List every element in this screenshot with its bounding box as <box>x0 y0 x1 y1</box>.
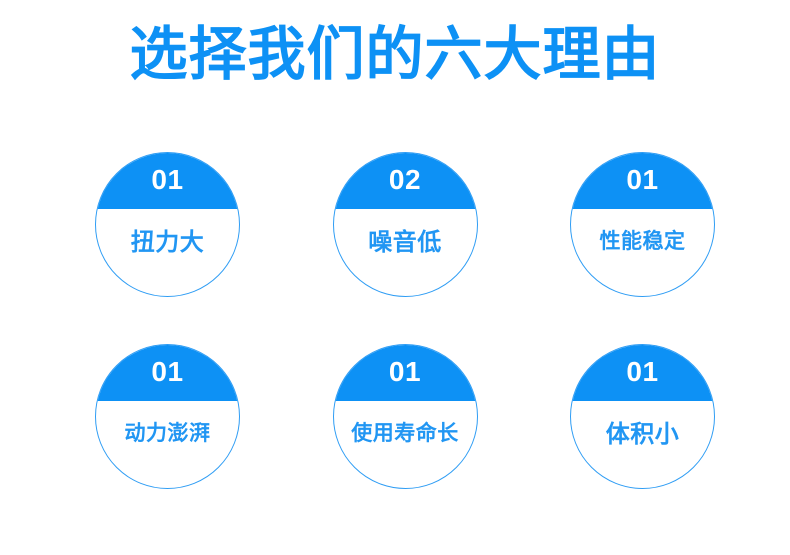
badge-label: 使用寿命长 <box>334 423 477 444</box>
badge-number: 01 <box>96 358 239 386</box>
badge-label: 噪音低 <box>334 231 477 255</box>
badge-label: 性能稳定 <box>571 231 714 252</box>
badge-number: 02 <box>334 166 477 194</box>
feature-badge-3[interactable]: 01 性能稳定 <box>570 152 715 297</box>
feature-badge-6[interactable]: 01 体积小 <box>570 344 715 489</box>
feature-badge-row-bottom: 01 动力澎湃 01 使用寿命长 01 体积小 <box>95 344 715 489</box>
feature-badge-4[interactable]: 01 动力澎湃 <box>95 344 240 489</box>
promo-feature-panel: 选择我们的六大理由 01 扭力大 02 噪音低 01 性能稳定 0 <box>0 0 790 555</box>
badge-number: 01 <box>334 358 477 386</box>
feature-badge-row-top: 01 扭力大 02 噪音低 01 性能稳定 <box>95 152 715 297</box>
badge-label: 动力澎湃 <box>96 423 239 444</box>
feature-badge-1[interactable]: 01 扭力大 <box>95 152 240 297</box>
feature-badge-2[interactable]: 02 噪音低 <box>333 152 478 297</box>
badge-label: 体积小 <box>571 423 714 447</box>
page-title: 选择我们的六大理由 <box>0 22 790 89</box>
feature-badge-5[interactable]: 01 使用寿命长 <box>333 344 478 489</box>
feature-badge-grid: 01 扭力大 02 噪音低 01 性能稳定 01 动力澎湃 <box>95 152 715 489</box>
badge-number: 01 <box>96 166 239 194</box>
badge-number: 01 <box>571 358 714 386</box>
badge-label: 扭力大 <box>96 231 239 255</box>
badge-number: 01 <box>571 166 714 194</box>
